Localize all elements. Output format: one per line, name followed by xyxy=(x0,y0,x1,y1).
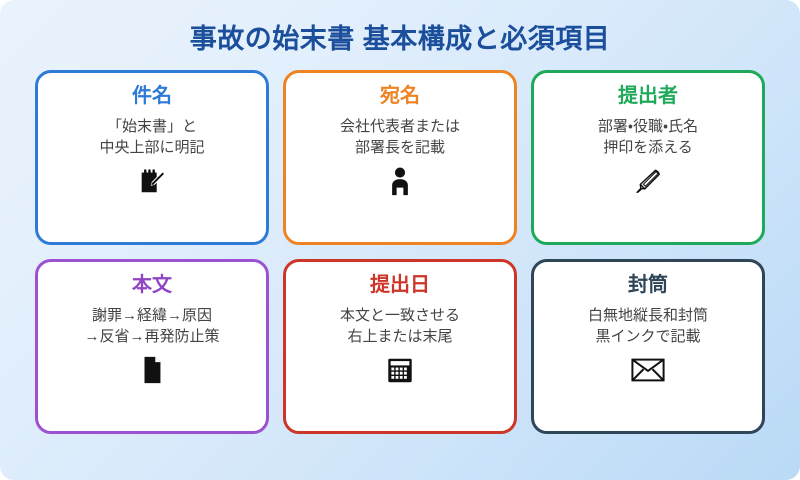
memo-icon xyxy=(137,164,167,198)
card-teishutsubi[interactable]: 提出日 本文と一致させる 右上または末尾 xyxy=(283,259,517,434)
card-description: 謝罪→経緯→原因 →反省→再発防止策 xyxy=(84,305,219,348)
card-heading: 宛名 xyxy=(380,84,420,108)
card-description: 白無地縦長和封筒 黒インクで記載 xyxy=(588,305,708,348)
infographic-canvas: 事故の始末書 基本構成と必須項目 件名 「始末書」と 中央上部に明記 宛名 会社… xyxy=(0,0,800,480)
calendar-icon xyxy=(385,353,415,387)
card-heading: 封筒 xyxy=(628,273,668,297)
card-futo[interactable]: 封筒 白無地縦長和封筒 黒インクで記載 xyxy=(531,259,765,434)
card-heading: 提出者 xyxy=(618,84,678,108)
page-title: 事故の始末書 基本構成と必須項目 xyxy=(0,0,800,65)
card-description: 部署・役職・氏名 押印を添える xyxy=(598,116,698,159)
document-icon xyxy=(140,353,164,387)
card-heading: 本文 xyxy=(132,273,172,297)
card-grid: 件名 「始末書」と 中央上部に明記 宛名 会社代表者または 部署長を記載 xyxy=(0,65,800,480)
card-heading: 件名 xyxy=(132,84,172,108)
card-teishutsusha[interactable]: 提出者 部署・役職・氏名 押印を添える xyxy=(531,70,765,245)
card-kenmei[interactable]: 件名 「始末書」と 中央上部に明記 xyxy=(35,70,269,245)
card-atena[interactable]: 宛名 会社代表者または 部署長を記載 xyxy=(283,70,517,245)
pen-icon xyxy=(633,164,663,198)
person-icon xyxy=(387,164,413,198)
envelope-icon xyxy=(631,353,665,387)
card-heading: 提出日 xyxy=(370,273,430,297)
card-description: 「始末書」と 中央上部に明記 xyxy=(99,116,204,159)
card-description: 会社代表者または 部署長を記載 xyxy=(340,116,460,159)
card-honbun[interactable]: 本文 謝罪→経緯→原因 →反省→再発防止策 xyxy=(35,259,269,434)
card-description: 本文と一致させる 右上または末尾 xyxy=(340,305,460,348)
